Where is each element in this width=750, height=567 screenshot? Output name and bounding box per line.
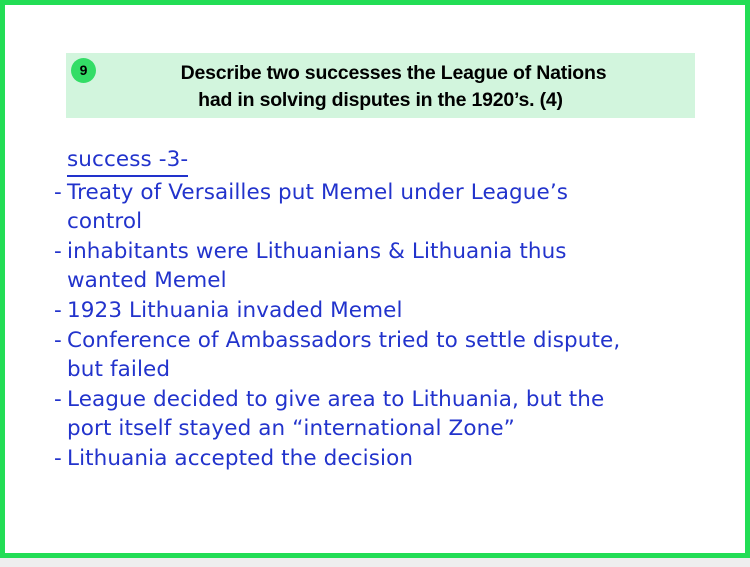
list-item-text: Conference of Ambassadors tried to settl…: [67, 326, 744, 384]
list-item: - Conference of Ambassadors tried to set…: [54, 326, 744, 384]
list-item-line-1: inhabitants were Lithuanians & Lithuania…: [67, 239, 567, 264]
list-item-line-2: port itself stayed an “international Zon…: [67, 414, 744, 443]
bullet-glyph: -: [54, 237, 67, 266]
notes-heading: success -3-: [67, 145, 188, 177]
list-item: - inhabitants were Lithuanians & Lithuan…: [54, 237, 744, 295]
bullet-glyph: -: [54, 296, 67, 325]
question-banner: 9 Describe two successes the League of N…: [66, 53, 695, 118]
list-item-line-2: but failed: [67, 355, 744, 384]
list-item: - 1923 Lithuania invaded Memel: [54, 296, 744, 325]
list-item-line-1: Lithuania accepted the decision: [67, 446, 413, 471]
notes-block: success -3- - Treaty of Versailles put M…: [54, 145, 744, 473]
question-line-2: had in solving disputes in the 1920’s. (…: [76, 87, 685, 114]
slide-canvas: 9 Describe two successes the League of N…: [0, 0, 750, 558]
question-number-badge: 9: [71, 58, 96, 83]
question-text: Describe two successes the League of Nat…: [76, 60, 685, 114]
list-item-line-1: Conference of Ambassadors tried to settl…: [67, 328, 620, 353]
list-item-text: inhabitants were Lithuanians & Lithuania…: [67, 237, 744, 295]
bullet-glyph: -: [54, 326, 67, 355]
list-item-line-2: control: [67, 207, 744, 236]
list-item-text: Lithuania accepted the decision: [67, 444, 744, 473]
bullet-glyph: -: [54, 385, 67, 414]
list-item-text: League decided to give area to Lithuania…: [67, 385, 744, 443]
bullet-glyph: -: [54, 178, 67, 207]
list-item-line-2: wanted Memel: [67, 266, 744, 295]
list-item-text: Treaty of Versailles put Memel under Lea…: [67, 178, 744, 236]
list-item-text: 1923 Lithuania invaded Memel: [67, 296, 744, 325]
question-line-1: Describe two successes the League of Nat…: [76, 60, 685, 87]
list-item: - League decided to give area to Lithuan…: [54, 385, 744, 443]
list-item: - Treaty of Versailles put Memel under L…: [54, 178, 744, 236]
list-item-line-1: Treaty of Versailles put Memel under Lea…: [67, 180, 568, 205]
list-item: - Lithuania accepted the decision: [54, 444, 744, 473]
bullet-glyph: -: [54, 444, 67, 473]
list-item-line-1: League decided to give area to Lithuania…: [67, 387, 604, 412]
list-item-line-1: 1923 Lithuania invaded Memel: [67, 298, 403, 323]
